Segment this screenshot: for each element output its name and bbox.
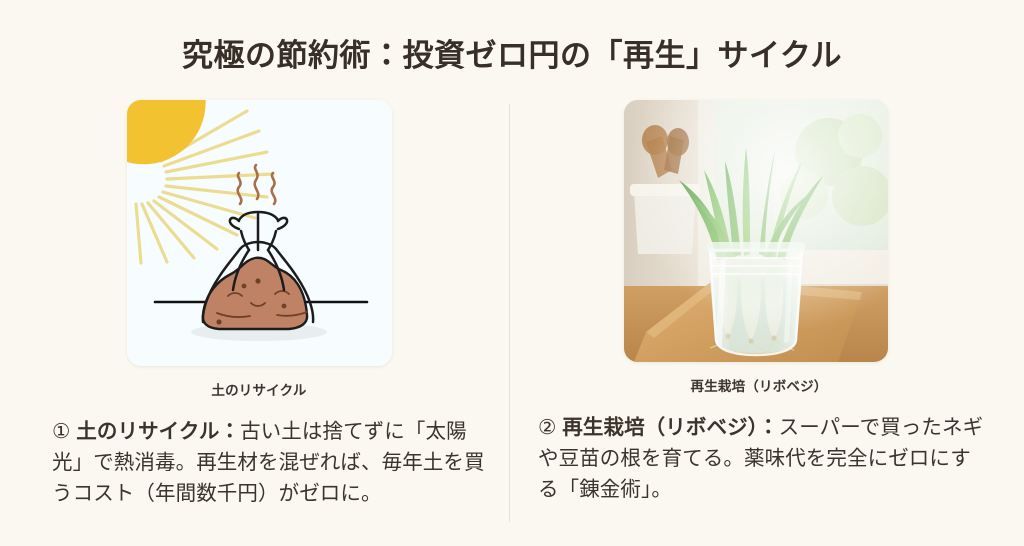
item-separator-right: ： — [758, 416, 779, 439]
green-onion-jar-photo — [624, 100, 888, 362]
page-title: 究極の節約術：投資ゼロ円の「再生」サイクル — [0, 30, 1024, 75]
body-text-right: ② 再生栽培（リボベジ）：スーパーで買ったネギや豆苗の根を育てる。薬味代を完全に… — [538, 412, 990, 505]
item-number-right: ② — [538, 416, 556, 439]
photo-canvas — [624, 100, 888, 362]
illustration-canvas — [127, 100, 392, 366]
photo-svg — [624, 100, 888, 362]
item-lead-right: 再生栽培（リボベジ） — [562, 416, 758, 439]
soil-bag-sun-illustration — [127, 100, 392, 366]
column-regrow-vegetables: 再生栽培（リボベジ） ② 再生栽培（リボベジ）：スーパーで買ったネギや豆苗の根を… — [524, 100, 994, 505]
item-number-left: ① — [52, 420, 70, 443]
item-separator-left: ： — [219, 420, 240, 443]
figure-caption-right: 再生栽培（リボベジ） — [524, 375, 994, 395]
body-text-left: ① 土のリサイクル：古い土は捨てずに「太陽光」で熱消毒。再生材を混ぜれば、毎年土… — [52, 416, 496, 509]
slide-root: 究極の節約術：投資ゼロ円の「再生」サイクル — [0, 0, 1024, 546]
soil-illustration-svg — [127, 100, 392, 366]
column-soil-recycle: 土のリサイクル ① 土のリサイクル：古い土は捨てずに「太陽光」で熱消毒。再生材を… — [24, 100, 494, 509]
item-lead-left: 土のリサイクル — [76, 420, 219, 443]
figure-caption-left: 土のリサイクル — [24, 379, 494, 399]
window-light — [624, 100, 888, 362]
column-divider — [509, 104, 510, 522]
